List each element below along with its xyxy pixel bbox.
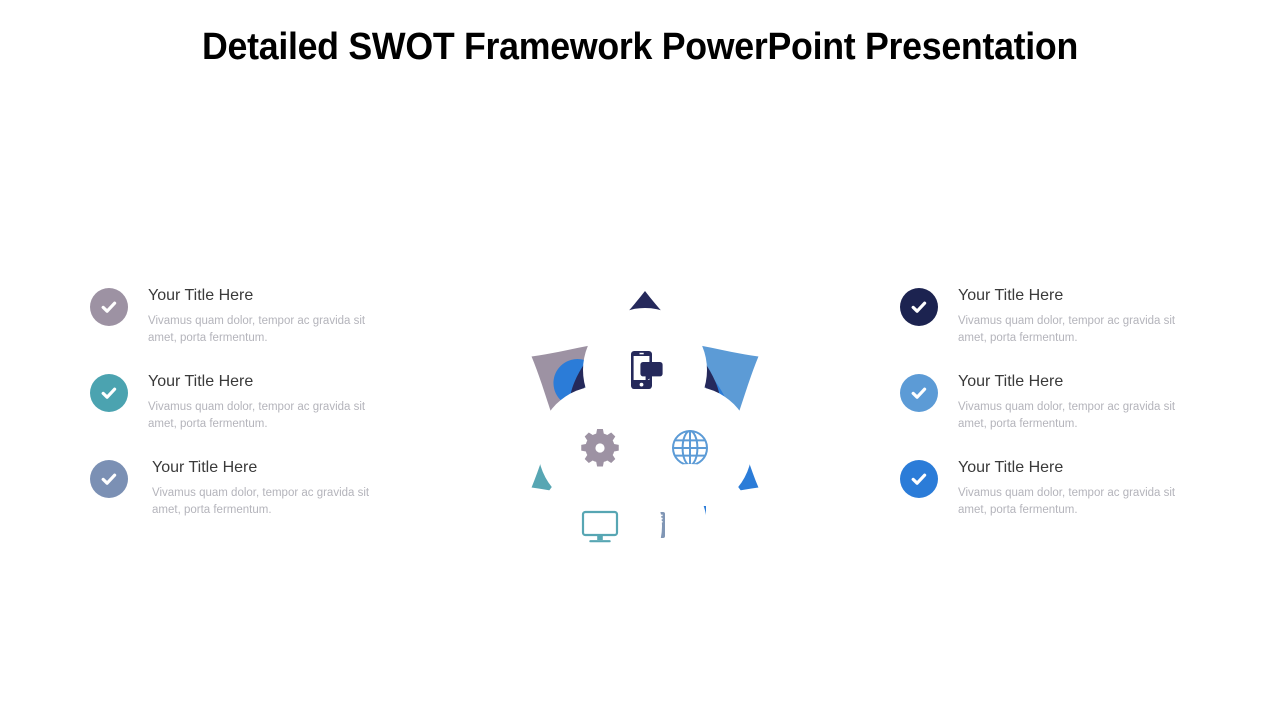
petal-icon-upper-left[interactable] (538, 386, 662, 510)
globe-icon (673, 431, 707, 465)
list-item-title: Your Title Here (148, 372, 420, 392)
list-item-description: Vivamus quam dolor, tempor ac gravida si… (958, 485, 1198, 518)
check-badge-icon (90, 374, 128, 412)
list-item[interactable]: Your Title Here Vivamus quam dolor, temp… (900, 372, 1230, 458)
list-item[interactable]: Your Title Here Vivamus quam dolor, temp… (90, 286, 420, 372)
list-item[interactable]: Your Title Here Vivamus quam dolor, temp… (900, 458, 1230, 544)
list-item-title: Your Title Here (958, 372, 1230, 392)
list-item-description: Vivamus quam dolor, tempor ac gravida si… (958, 313, 1198, 346)
check-badge-icon (900, 288, 938, 326)
list-item-body: Your Title Here Vivamus quam dolor, temp… (148, 286, 420, 346)
gear-icon (581, 429, 619, 467)
slide-canvas: Detailed SWOT Framework PowerPoint Prese… (0, 0, 1280, 720)
check-badge-icon (90, 288, 128, 326)
swot-flower-diagram (440, 180, 850, 660)
list-item-title: Your Title Here (958, 458, 1230, 478)
list-item-body: Your Title Here Vivamus quam dolor, temp… (958, 458, 1230, 518)
check-badge-icon (900, 460, 938, 498)
list-item-description: Vivamus quam dolor, tempor ac gravida si… (958, 399, 1198, 432)
check-badge-icon (900, 374, 938, 412)
list-item-title: Your Title Here (152, 458, 420, 478)
right-feature-list: Your Title Here Vivamus quam dolor, temp… (900, 286, 1230, 544)
list-item[interactable]: Your Title Here Vivamus quam dolor, temp… (900, 286, 1230, 372)
list-item-title: Your Title Here (958, 286, 1230, 306)
left-feature-list: Your Title Here Vivamus quam dolor, temp… (90, 286, 420, 544)
list-item-description: Vivamus quam dolor, tempor ac gravida si… (148, 313, 388, 346)
list-item-description: Vivamus quam dolor, tempor ac gravida si… (148, 399, 388, 432)
list-item-body: Your Title Here Vivamus quam dolor, temp… (958, 286, 1230, 346)
list-item-body: Your Title Here Vivamus quam dolor, temp… (958, 372, 1230, 432)
list-item-description: Vivamus quam dolor, tempor ac gravida si… (152, 485, 392, 518)
list-item-title: Your Title Here (148, 286, 420, 306)
list-item[interactable]: Your Title Here Vivamus quam dolor, temp… (90, 372, 420, 458)
list-item-body: Your Title Here Vivamus quam dolor, temp… (152, 458, 420, 518)
list-item[interactable]: Your Title Here Vivamus quam dolor, temp… (90, 458, 420, 544)
list-item-body: Your Title Here Vivamus quam dolor, temp… (148, 372, 420, 432)
check-badge-icon (90, 460, 128, 498)
page-title: Detailed SWOT Framework PowerPoint Prese… (38, 26, 1241, 69)
